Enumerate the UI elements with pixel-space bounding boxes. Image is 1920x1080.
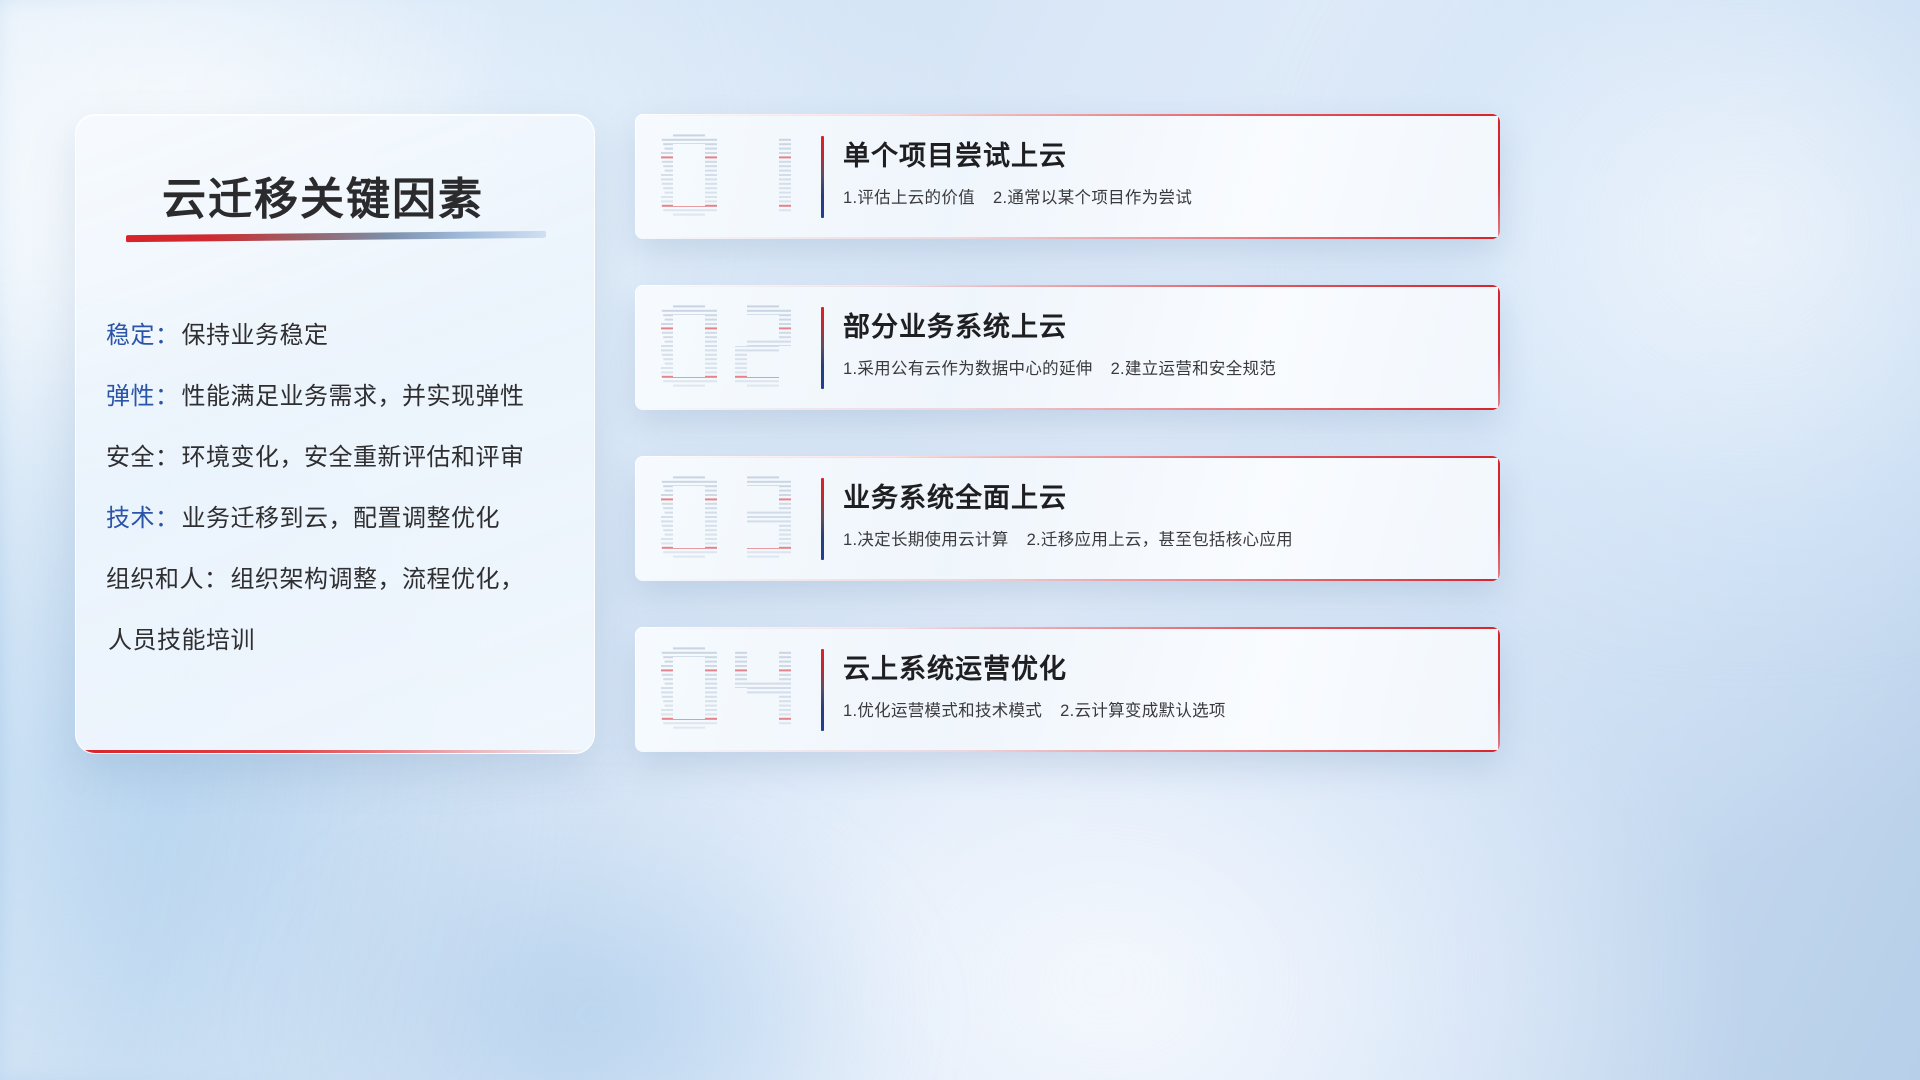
card-edge-bottom: [635, 237, 1500, 239]
step-divider-bar: [821, 649, 824, 731]
key-factors-card: 云迁移关键因素 稳定：保持业务稳定 弹性：性能满足业务需求，并实现弹性 安全：环…: [75, 114, 595, 754]
step-card-03[interactable]: 业务系统全面上云 1.决定长期使用云计算2.迁移应用上云，甚至包括核心应用: [635, 456, 1500, 581]
step-card-01[interactable]: 单个项目尝试上云 1.评估上云的价值2.通常以某个项目作为尝试: [635, 114, 1500, 239]
list-item-text: 业务迁移到云，配置调整优化: [182, 505, 501, 532]
list-item-label: 弹性：: [106, 383, 180, 410]
card-edge-bottom: [635, 750, 1500, 752]
step-card-04[interactable]: 云上系统运营优化 1.优化运营模式和技术模式2.云计算变成默认选项: [635, 627, 1500, 752]
card-edge-top: [635, 285, 1500, 287]
list-item-text: 保持业务稳定: [182, 322, 329, 349]
list-item-label: 稳定：: [106, 322, 180, 349]
step-point-1: 1.采用公有云作为数据中心的延伸: [843, 360, 1093, 378]
card-edge-left: [635, 456, 636, 581]
card-edge-left: [635, 627, 636, 752]
step-title: 部分业务系统上云: [843, 305, 1067, 344]
card-edge-left: [635, 114, 636, 239]
step-title: 业务系统全面上云: [843, 476, 1067, 515]
card-edge-top: [635, 627, 1500, 629]
step-point-1: 1.决定长期使用云计算: [843, 531, 1009, 549]
page-title: 云迁移关键因素: [162, 163, 484, 227]
step-divider-bar: [821, 136, 824, 218]
card-edge-right: [1498, 285, 1500, 410]
step-number-glyph-03: [659, 470, 804, 566]
step-point-2: 2.迁移应用上云，甚至包括核心应用: [1027, 531, 1293, 549]
card-edge-top: [635, 456, 1500, 458]
step-title: 单个项目尝试上云: [843, 134, 1067, 173]
step-divider-bar: [821, 478, 824, 560]
list-item-label: 安全：: [106, 444, 180, 471]
title-underline-rule: [126, 231, 546, 242]
step-title: 云上系统运营优化: [843, 647, 1067, 686]
card-edge-bottom: [635, 408, 1500, 410]
list-item: 安全：环境变化，安全重新评估和评审: [106, 427, 576, 488]
step-points: 1.评估上云的价值2.通常以某个项目作为尝试: [843, 184, 1192, 208]
step-points: 1.决定长期使用云计算2.迁移应用上云，甚至包括核心应用: [843, 526, 1293, 550]
list-item: 组织和人：组织架构调整，流程优化，: [106, 549, 576, 610]
list-item: 稳定：保持业务稳定: [106, 305, 576, 366]
list-item-text: 性能满足业务需求，并实现弹性: [182, 383, 525, 410]
step-number-glyph-02: [659, 299, 804, 395]
list-item: 人员技能培训: [106, 610, 576, 671]
slide-stage: 云迁移关键因素 稳定：保持业务稳定 弹性：性能满足业务需求，并实现弹性 安全：环…: [0, 0, 1920, 1080]
step-point-2: 2.建立运营和安全规范: [1111, 360, 1277, 378]
step-point-2: 2.通常以某个项目作为尝试: [993, 189, 1192, 207]
card-edge-left: [635, 285, 636, 410]
step-point-1: 1.优化运营模式和技术模式: [843, 702, 1042, 720]
step-point-2: 2.云计算变成默认选项: [1060, 702, 1226, 720]
card-edge-right: [1498, 627, 1500, 752]
step-point-1: 1.评估上云的价值: [843, 189, 975, 207]
key-factors-list: 稳定：保持业务稳定 弹性：性能满足业务需求，并实现弹性 安全：环境变化，安全重新…: [106, 305, 576, 671]
card-edge-right: [1498, 114, 1500, 239]
list-item: 技术：业务迁移到云，配置调整优化: [106, 488, 576, 549]
list-item-label: 技术：: [106, 505, 180, 532]
list-item-label: 组织和人：: [106, 566, 229, 593]
step-points: 1.采用公有云作为数据中心的延伸2.建立运营和安全规范: [843, 355, 1276, 379]
step-number-glyph-01: [659, 128, 804, 224]
step-divider-bar: [821, 307, 824, 389]
list-item-text: 人员技能培训: [108, 627, 255, 654]
step-card-02[interactable]: 部分业务系统上云 1.采用公有云作为数据中心的延伸2.建立运营和安全规范: [635, 285, 1500, 410]
card-edge-top: [635, 114, 1500, 116]
step-points: 1.优化运营模式和技术模式2.云计算变成默认选项: [843, 697, 1226, 721]
list-item-text: 组织架构调整，流程优化，: [231, 566, 525, 593]
list-item: 弹性：性能满足业务需求，并实现弹性: [106, 366, 576, 427]
list-item-text: 环境变化，安全重新评估和评审: [182, 444, 525, 471]
card-edge-bottom: [635, 579, 1500, 581]
step-number-glyph-04: [659, 641, 804, 737]
card-edge-right: [1498, 456, 1500, 581]
